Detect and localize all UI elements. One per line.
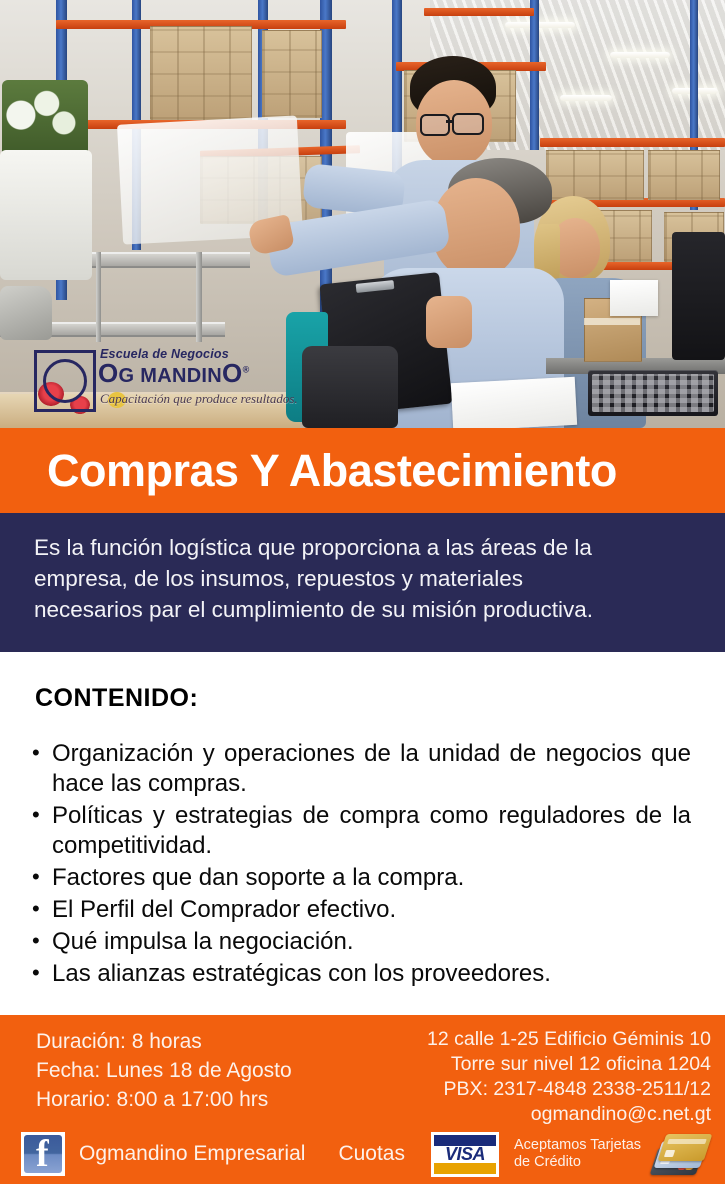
facebook-f-glyph: f: [36, 1135, 49, 1173]
logo-school-line: Escuela de Negocios: [100, 347, 229, 361]
chair-dark: [302, 346, 398, 428]
pallet-boxes: [546, 150, 644, 200]
content-section: CONTENIDO: Organización y operaciones de…: [0, 652, 725, 1015]
credit-card-top: [658, 1134, 713, 1161]
logo-brand-o2: O: [222, 358, 243, 388]
phone-line: PBX: 2317-4848 2338-2511/12: [427, 1077, 711, 1102]
hero-photo: Escuela de Negocios OG MANDINO® Capacita…: [0, 0, 725, 428]
facebook-icon[interactable]: f: [21, 1132, 65, 1176]
visa-icon: VISA: [431, 1132, 499, 1177]
credit-notice-line-1: Aceptamos Tarjetas: [514, 1137, 641, 1154]
paper-document: [451, 377, 577, 428]
ceiling-light: [610, 52, 670, 58]
white-vase: [0, 150, 92, 280]
course-duration: Duración: 8 horas: [36, 1027, 292, 1056]
paper-stack: [610, 280, 658, 316]
logo-tagline: Capacitación que produce resultados.: [100, 391, 298, 407]
credit-card-notice: Aceptamos Tarjetas de Crédito: [514, 1137, 641, 1171]
card-chip: [664, 1150, 675, 1157]
footer-course-details: Duración: 8 horas Fecha: Lunes 18 de Ago…: [36, 1027, 292, 1127]
footer-band: Duración: 8 horas Fecha: Lunes 18 de Ago…: [0, 1015, 725, 1184]
credit-cards-stack-icon: [653, 1134, 711, 1174]
footer-columns: Duración: 8 horas Fecha: Lunes 18 de Ago…: [0, 1015, 725, 1127]
course-schedule: Horario: 8:00 a 17:00 hrs: [36, 1085, 292, 1114]
description-line: Es la función logística que proporciona …: [34, 532, 695, 563]
credit-notice-line-2: de Crédito: [514, 1154, 641, 1171]
course-date: Fecha: Lunes 18 de Agosto: [36, 1056, 292, 1085]
monitor: [672, 232, 725, 360]
footer-social-payment-bar: f Ogmandino Empresarial Cuotas VISA Acep…: [0, 1124, 725, 1184]
list-item: Las alianzas estratégicas con los provee…: [30, 959, 697, 989]
glasses-right-lens: [452, 113, 484, 135]
logo-brand-o: O: [98, 358, 119, 388]
glasses-bridge: [446, 120, 453, 123]
registered-icon: ®: [243, 364, 250, 374]
list-item: Factores que dan soporte a la compra.: [30, 863, 697, 893]
address-line-1: 12 calle 1-25 Edificio Géminis 10: [427, 1027, 711, 1052]
description-band: Es la función logística que proporciona …: [0, 513, 725, 652]
rack-upright: [530, 0, 539, 150]
pallet-boxes: [648, 150, 720, 200]
description-line: empresa, de los insumos, repuestos y mat…: [34, 563, 695, 594]
flyer-page: Escuela de Negocios OG MANDINO® Capacita…: [0, 0, 725, 1184]
pitcher: [0, 286, 52, 340]
title-band: Compras Y Abastecimiento: [0, 428, 725, 513]
glasses-left-lens: [420, 114, 450, 136]
card-stripe: [667, 1139, 707, 1144]
box-tape: [584, 318, 640, 325]
list-item: Organización y operaciones de la unidad …: [30, 739, 697, 799]
ceiling-light: [505, 22, 575, 28]
content-heading: CONTENIDO:: [35, 684, 697, 713]
pallet-boxes: [262, 30, 322, 118]
flowers-plant: [2, 80, 88, 158]
rack-beam: [424, 8, 534, 16]
address-line-2: Torre sur nivel 12 oficina 1204: [427, 1052, 711, 1077]
ceiling-light: [560, 95, 612, 101]
visa-bottom-bar: [434, 1163, 496, 1174]
description-line: necesarios par el cumplimiento de su mis…: [34, 594, 695, 625]
og-mandino-logo: Escuela de Negocios OG MANDINO® Capacita…: [34, 347, 266, 421]
content-bullet-list: Organización y operaciones de la unidad …: [30, 739, 697, 989]
shelf-post: [196, 252, 202, 342]
logo-brand-mandin: MANDIN: [134, 365, 222, 387]
list-item: Políticas y estrategias de compra como r…: [30, 801, 697, 861]
pallet-boxes: [150, 26, 252, 120]
facebook-page-label[interactable]: Ogmandino Empresarial: [79, 1142, 305, 1166]
logo-brand-g: G: [119, 365, 135, 387]
cuotas-label: Cuotas: [338, 1142, 405, 1166]
rack-beam: [540, 138, 725, 147]
shelf-post: [96, 252, 101, 342]
list-item: Qué impulsa la negociación.: [30, 927, 697, 957]
keyboard: [588, 370, 718, 416]
logo-circle-icon: [43, 359, 87, 403]
logo-square-icon: [34, 350, 96, 412]
page-title: Compras Y Abastecimiento: [0, 448, 617, 493]
footer-contact-details: 12 calle 1-25 Edificio Géminis 10 Torre …: [427, 1027, 711, 1127]
facebook-icon-inner: f: [24, 1135, 62, 1173]
logo-brand-name: OG MANDINO®: [98, 360, 250, 386]
list-item: El Perfil del Comprador efectivo.: [30, 895, 697, 925]
visa-wordmark: VISA: [434, 1146, 496, 1163]
man-front-hand: [426, 296, 472, 348]
